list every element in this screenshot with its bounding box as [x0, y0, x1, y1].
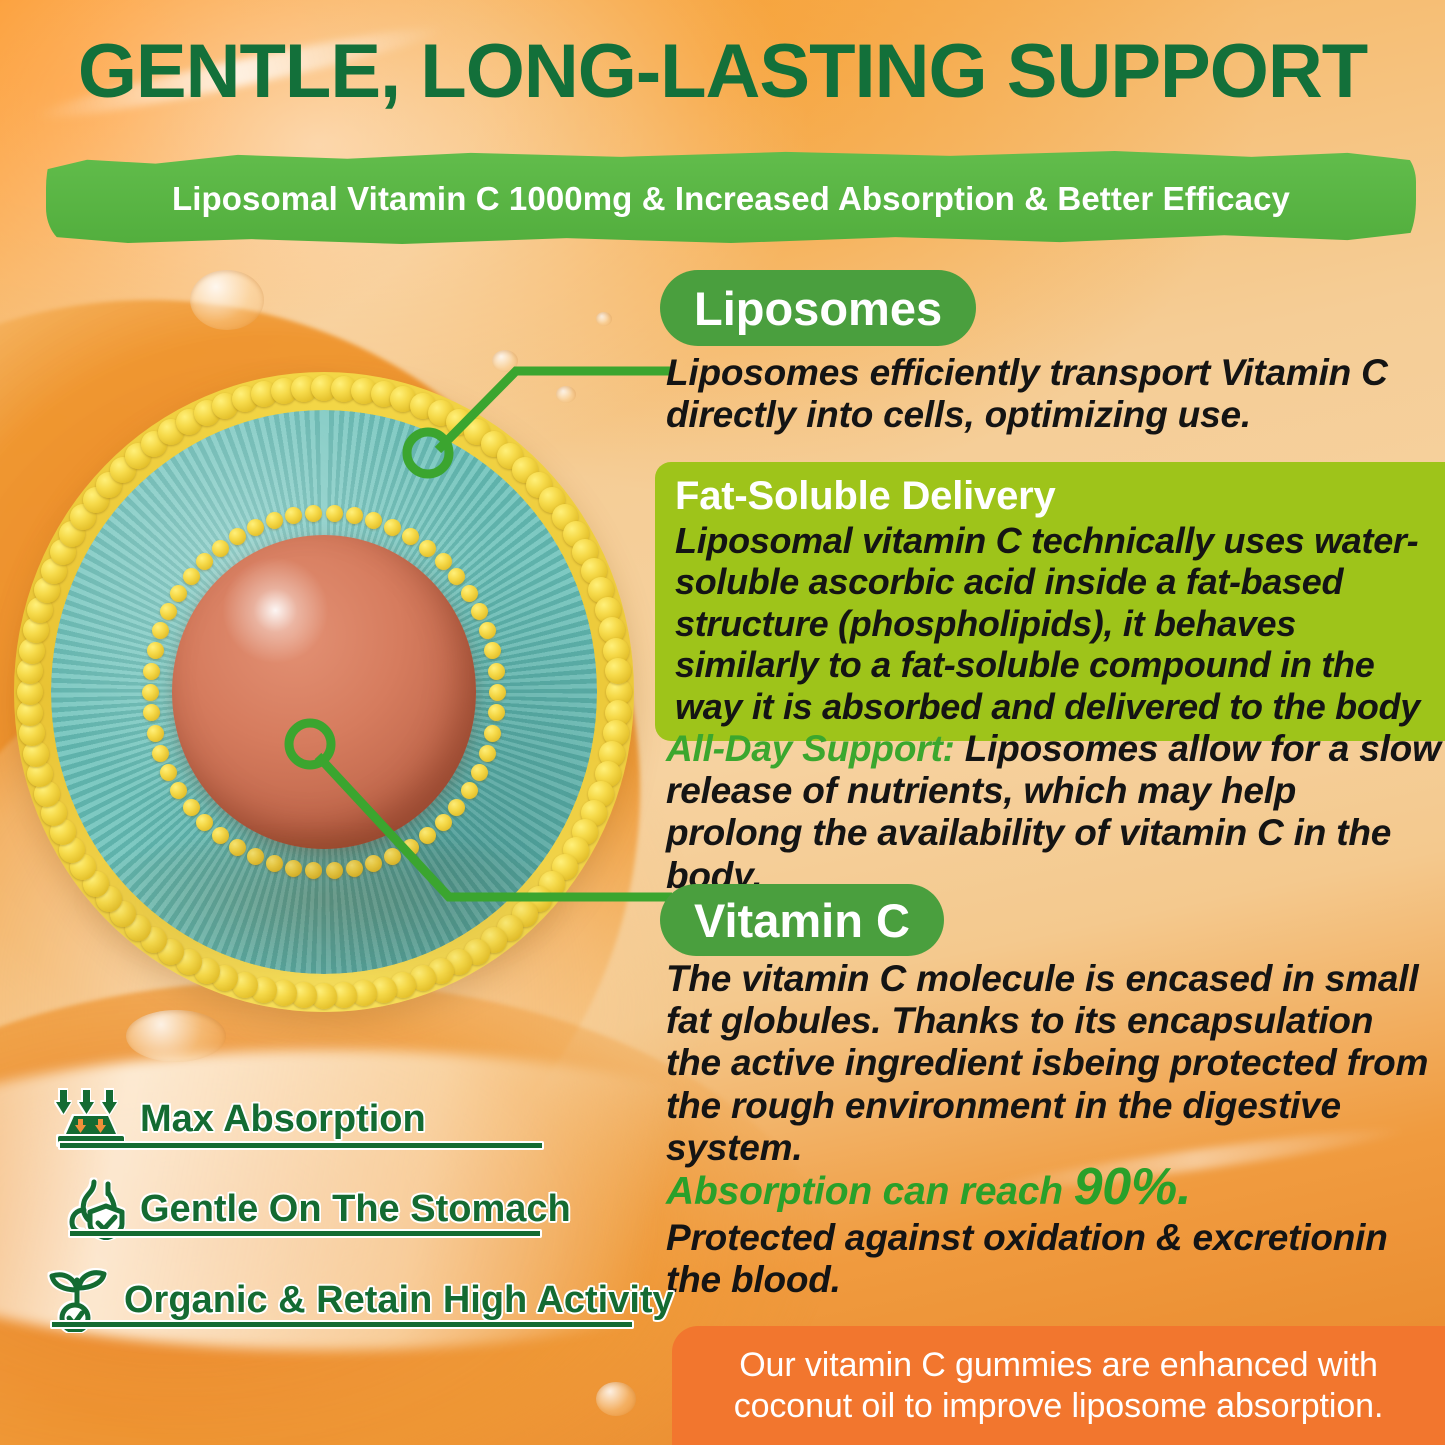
all-day-support-lead: All-Day Support: — [666, 728, 955, 769]
feature-label: Max Absorption — [140, 1098, 426, 1145]
phospholipid-head — [183, 799, 200, 816]
phospholipid-head — [143, 663, 160, 680]
absorption-paragraph: Absorption can reach 90%. Protected agai… — [666, 1158, 1445, 1302]
phospholipid-head — [461, 585, 478, 602]
phospholipid-head — [435, 553, 452, 570]
phospholipid-head — [170, 782, 187, 799]
phospholipid-head — [384, 519, 401, 536]
phospholipid-head — [346, 507, 363, 524]
absorption-prefix: Absorption can reach — [666, 1170, 1074, 1213]
phospholipid-head — [147, 642, 164, 659]
page-subtitle: Liposomal Vitamin C 1000mg & Increased A… — [46, 160, 1416, 238]
absorption-body: Protected against oxidation & excretioni… — [666, 1217, 1445, 1301]
feature-underline — [58, 1141, 544, 1150]
all-day-support-paragraph: All-Day Support: Liposomes allow for a s… — [666, 728, 1441, 897]
phospholipid-head — [471, 764, 488, 781]
phospholipid-head — [488, 663, 505, 680]
phospholipid-head — [152, 745, 169, 762]
feature-underline — [50, 1320, 634, 1329]
phospholipid-head — [147, 725, 164, 742]
phospholipid-head — [489, 684, 506, 701]
bottom-banner-text: Our vitamin C gummies are enhanced with … — [692, 1345, 1425, 1427]
liposome-drop-shadow — [64, 833, 585, 999]
infographic-poster: GENTLE, LONG-LASTING SUPPORT Liposomal V… — [0, 0, 1445, 1445]
phospholipid-head — [305, 505, 322, 522]
phospholipid-head — [479, 622, 496, 639]
vitamin-c-pill-label: Vitamin C — [660, 884, 944, 956]
phospholipid-head — [484, 642, 501, 659]
phospholipid-head — [285, 507, 302, 524]
phospholipid-head — [170, 585, 187, 602]
phospholipid-head — [471, 603, 488, 620]
water-droplet — [596, 1382, 636, 1416]
phospholipid-head — [448, 568, 465, 585]
phospholipid-head — [419, 540, 436, 557]
phospholipid-head — [196, 553, 213, 570]
fat-soluble-heading: Fat-Soluble Delivery — [675, 474, 1431, 519]
page-title: GENTLE, LONG-LASTING SUPPORT — [0, 28, 1445, 115]
phospholipid-head — [247, 519, 264, 536]
liposomes-description: Liposomes efficiently transport Vitamin … — [666, 352, 1436, 436]
bottom-banner: Our vitamin C gummies are enhanced with … — [672, 1326, 1445, 1445]
phospholipid-head — [488, 704, 505, 721]
feature-label: Organic & Retain High Activity — [124, 1279, 674, 1326]
liposome-cross-section-illustration — [14, 372, 634, 1012]
water-droplet — [492, 350, 518, 372]
liposomes-pill-label: Liposomes — [660, 270, 976, 346]
feature-label: Gentle On The Stomach — [140, 1188, 571, 1235]
phospholipid-head — [402, 528, 419, 545]
fat-soluble-delivery-card: Fat-Soluble Delivery Liposomal vitamin C… — [655, 462, 1445, 741]
water-droplet — [596, 312, 612, 326]
phospholipid-head — [212, 540, 229, 557]
fat-soluble-body: Liposomal vitamin C technically uses wat… — [675, 520, 1431, 727]
phospholipid-head — [160, 603, 177, 620]
phospholipid-head — [365, 512, 382, 529]
phospholipid-head — [326, 505, 343, 522]
vitamin-c-core-sphere — [172, 535, 476, 849]
phospholipid-head — [183, 568, 200, 585]
water-droplet — [126, 1010, 226, 1062]
phospholipid-head — [461, 782, 478, 799]
phospholipid-head — [484, 725, 501, 742]
phospholipid-head — [160, 764, 177, 781]
vitamin-c-description: The vitamin C molecule is encased in sma… — [666, 958, 1436, 1169]
phospholipid-head — [196, 814, 213, 831]
absorption-headline: Absorption can reach 90%. — [666, 1158, 1445, 1217]
water-droplet — [190, 270, 264, 330]
phospholipid-head — [479, 745, 496, 762]
feature-underline — [68, 1229, 542, 1238]
phospholipid-head — [435, 814, 452, 831]
phospholipid-head — [229, 528, 246, 545]
phospholipid-head — [448, 799, 465, 816]
absorption-value: 90%. — [1074, 1158, 1192, 1216]
phospholipid-head — [266, 512, 283, 529]
phospholipid-head — [143, 704, 160, 721]
phospholipid-head — [142, 684, 159, 701]
phospholipid-head — [152, 622, 169, 639]
